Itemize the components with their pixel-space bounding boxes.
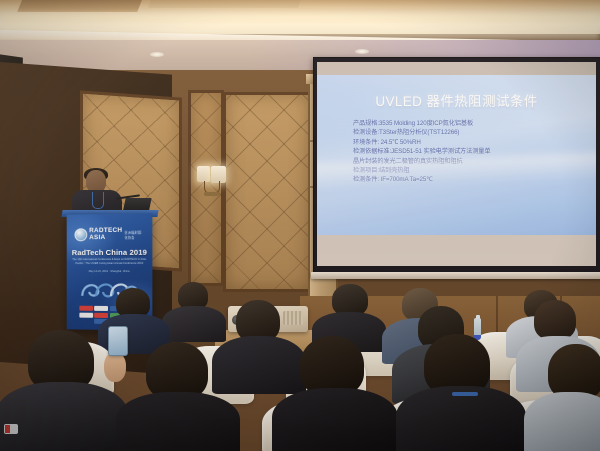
quilted-wall-panel (223, 92, 311, 292)
slide-line: 检测条件: IF=700mA Ta=25℃ (353, 175, 582, 184)
slide-line: 检测项目:结到壳热阻 (353, 166, 582, 175)
audience-shoulders (524, 392, 600, 451)
projector-vent (283, 311, 303, 325)
sponsor-logo (79, 312, 93, 317)
logo-subtext: 亚洲辐射固化协会 (124, 229, 144, 239)
audience-shoulders (116, 392, 240, 451)
slide-line: 产品规格:3535 Molding 120度ICP氮化铝基板 (353, 119, 582, 128)
presentation-slide: UVLED 器件热阻测试条件 产品规格:3535 Molding 120度ICP… (317, 75, 596, 235)
recessed-downlight (150, 52, 164, 57)
slide-title: UVLED 器件热阻测试条件 (317, 90, 596, 110)
water-bottle (474, 318, 481, 340)
audience-head (534, 300, 576, 340)
presenter-lanyard (92, 192, 104, 209)
slide-line: 晶片封装的发光二极管的真实热阻和阻抗 (353, 157, 582, 166)
sponsor-logo (94, 306, 108, 311)
globe-icon (74, 228, 87, 241)
sconce-shade (197, 166, 210, 182)
slide-line: 检测设备:T3Ster热阻分析仪(TST12266) (353, 128, 582, 137)
lanyard (452, 392, 478, 396)
podium-event-subtitle: The 13th International Conference & Expo… (71, 258, 149, 265)
wall-sconce-lamp (196, 166, 230, 200)
audience-shoulders (272, 388, 398, 451)
ceiling-panel-right (148, 0, 301, 8)
ceiling-panel-left (17, 0, 143, 12)
sponsor-logo (94, 312, 108, 317)
smartphone (108, 326, 128, 356)
slide-body: 产品规格:3535 Molding 120度ICP氮化铝基板 检测设备:T3St… (353, 119, 582, 185)
sconce-base (204, 192, 219, 196)
badge-stripe (5, 425, 10, 433)
podium-event-date: May 14-16, 2019 · Shanghai, China (67, 270, 153, 273)
audience-hand (104, 352, 126, 382)
slide-line: 环境条件: 24.5℃ 50%RH (353, 138, 582, 147)
projection-screen-surface: UVLED 器件热阻测试条件 产品规格:3535 Molding 120度ICP… (317, 62, 596, 266)
audience-shoulders (212, 336, 306, 394)
sponsor-logo (79, 306, 93, 311)
audience-shoulders (0, 382, 128, 451)
audience-head (300, 336, 364, 396)
audience-shoulders (162, 306, 226, 342)
radtech-asia-logo: RADTECH ASIA 亚洲辐射固化协会 (74, 228, 144, 242)
logo-line-2: ASIA (89, 234, 122, 241)
slide-line: 检测依据标准:JESD51-51 实验电学测试方法测量单 (353, 147, 582, 156)
podium-event-title: RadTech China 2019 (67, 248, 153, 257)
recessed-downlight (355, 49, 369, 54)
conference-photo-scene: UVLED 器件热阻测试条件 产品规格:3535 Molding 120度ICP… (0, 0, 600, 451)
projection-screen-weight-bar (311, 272, 600, 279)
